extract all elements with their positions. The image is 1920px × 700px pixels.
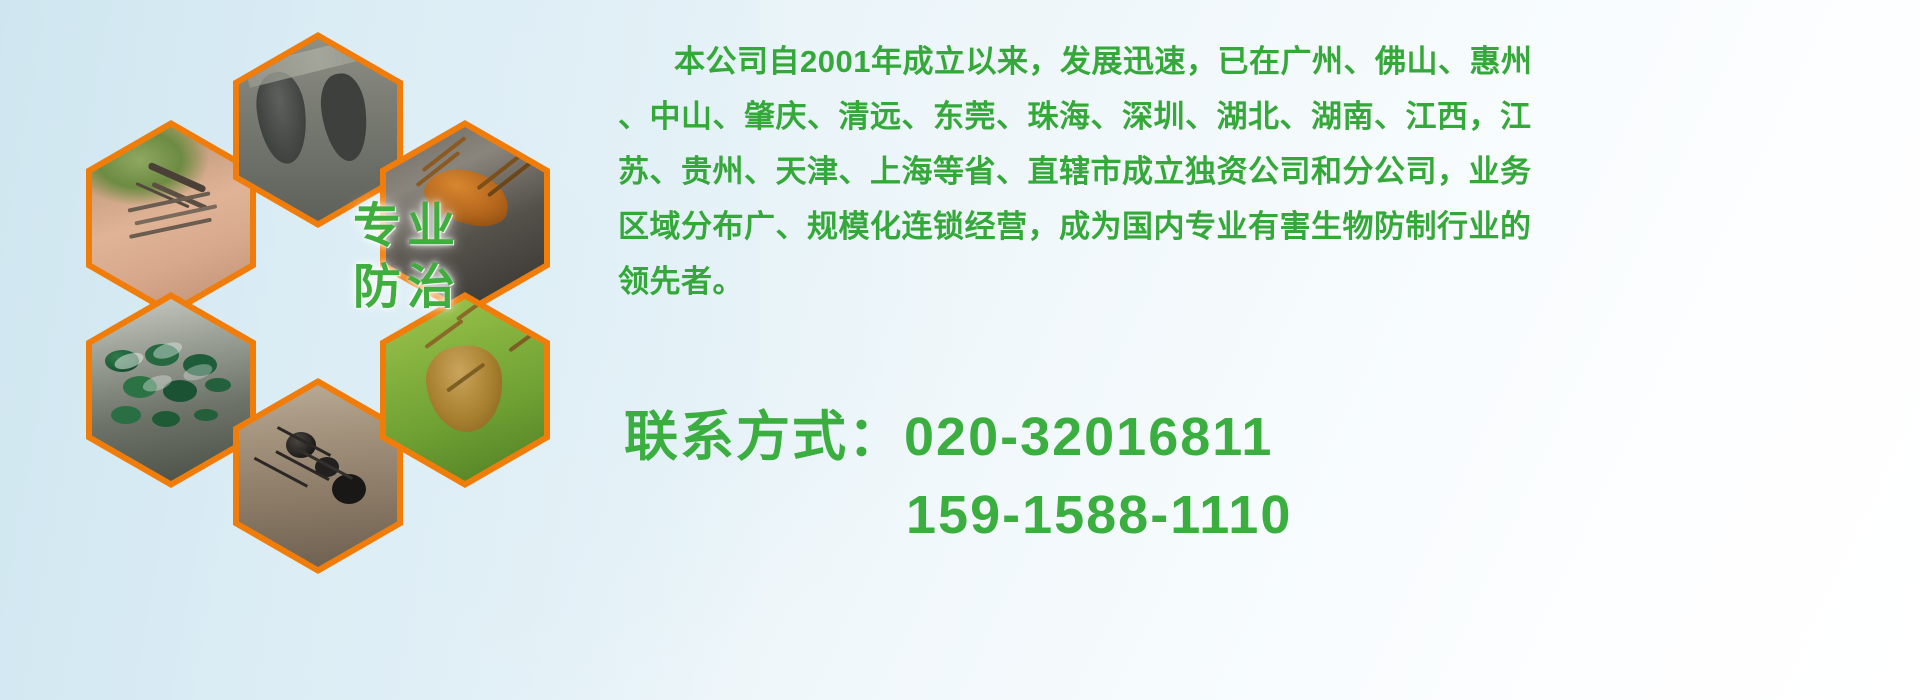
contact-phone-landline[interactable]: 联系方式：020-32016811 — [624, 398, 1824, 476]
description-line-3: 苏、贵州、天津、上海等省、直辖市成立独资公司和分公司，业务 — [618, 144, 1878, 199]
hex-badge-line-2: 防治 — [322, 257, 492, 318]
hex-cell-stink-bug — [380, 292, 550, 488]
pest-control-banner: 专业 防治 本公司自2001年成立以来，发展迅速，已在广州、佛山、惠州 、中山、… — [0, 0, 1920, 700]
hex-cell-flies — [86, 292, 256, 488]
hex-cell-rats-frame — [239, 39, 397, 221]
hex-cell-mosquito — [86, 120, 256, 316]
stink-bug-photo — [386, 299, 544, 481]
contact-block: 联系方式：020-32016811 159-1588-1110 — [624, 398, 1824, 554]
hex-photo-cluster: 专业 防治 — [86, 10, 586, 570]
rats-photo — [239, 39, 397, 221]
hex-cell-flies-frame — [92, 299, 250, 481]
hex-cell-mosquito-frame — [92, 127, 250, 309]
mosquito-photo — [92, 127, 250, 309]
hex-badge-text: 专业 防治 — [322, 196, 492, 319]
hex-cell-ant — [233, 378, 403, 574]
description-line-1: 本公司自2001年成立以来，发展迅速，已在广州、佛山、惠州 — [618, 34, 1878, 89]
hex-badge-line-1: 专业 — [322, 196, 492, 257]
company-description: 本公司自2001年成立以来，发展迅速，已在广州、佛山、惠州 、中山、肇庆、清远、… — [618, 34, 1878, 309]
description-line-2: 、中山、肇庆、清远、东莞、珠海、深圳、湖北、湖南、江西，江 — [618, 89, 1878, 144]
hex-cell-ant-frame — [239, 385, 397, 567]
description-line-4: 区域分布广、规模化连锁经营，成为国内专业有害生物防制行业的 — [618, 199, 1878, 254]
hex-cell-stink-bug-frame — [386, 299, 544, 481]
contact-phone-mobile[interactable]: 159-1588-1110 — [624, 476, 1824, 554]
description-line-5: 领先者。 — [618, 254, 1878, 309]
ant-photo — [239, 385, 397, 567]
flies-photo — [92, 299, 250, 481]
